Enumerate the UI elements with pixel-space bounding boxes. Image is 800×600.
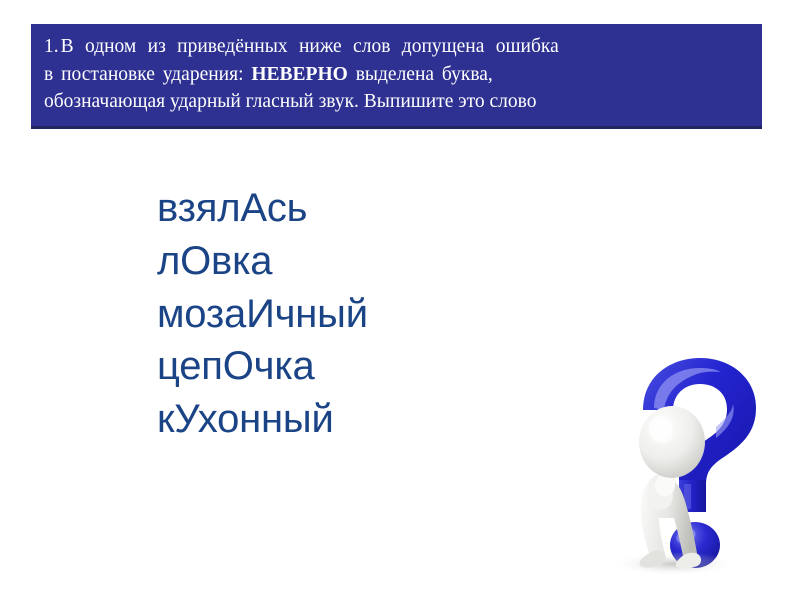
thinking-figure-question-mark-image [596, 352, 796, 578]
question-emphasis-neverno: НЕВЕРНО [251, 64, 347, 85]
question-line-1-text: В одном из приведённых ниже слов допущен… [61, 36, 559, 57]
question-line-2: в постановке ударения: НЕВЕРНО выделена … [44, 61, 749, 89]
question-line-2-post: выделена буква, [348, 64, 493, 85]
list-item[interactable]: лОвка [157, 235, 368, 288]
slide-canvas: 1.В одном из приведённых ниже слов допущ… [0, 0, 800, 600]
answer-options-list: взялАсь лОвка мозаИчный цепОчка кУхонный [157, 182, 368, 446]
question-line-3: обозначающая ударный гласный звук. Выпиш… [44, 88, 749, 116]
question-number: 1. [44, 36, 59, 57]
list-item[interactable]: кУхонный [157, 393, 368, 446]
list-item[interactable]: цепОчка [157, 340, 368, 393]
list-item[interactable]: мозаИчный [157, 288, 368, 341]
question-line-2-pre: в постановке ударения: [44, 64, 251, 85]
question-banner: 1.В одном из приведённых ниже слов допущ… [31, 24, 762, 129]
list-item[interactable]: взялАсь [157, 182, 368, 235]
question-line-1: 1.В одном из приведённых ниже слов допущ… [44, 33, 749, 61]
